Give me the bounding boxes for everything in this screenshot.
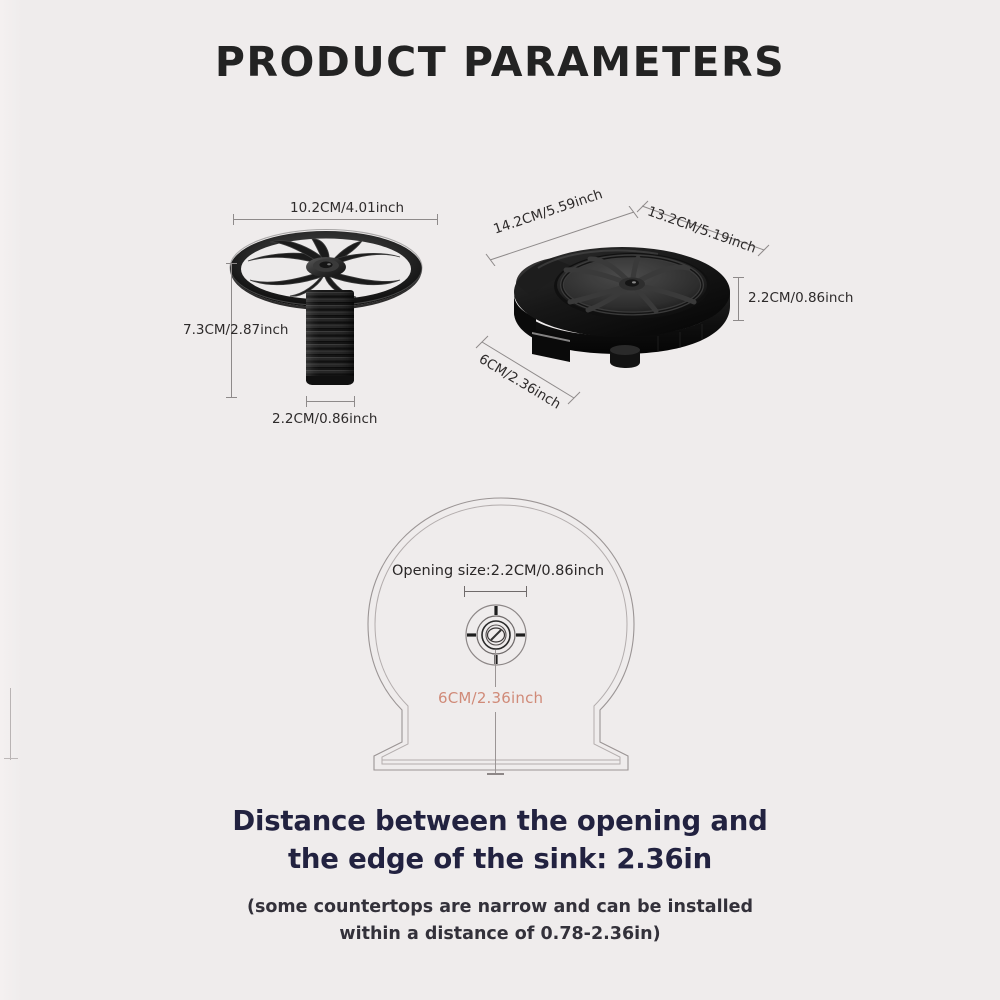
opening-dimension-cap-left (464, 586, 465, 597)
left-width-cap-start (233, 214, 234, 225)
opening-size-label: Opening size:2.2CM/0.86inch (392, 563, 604, 579)
left-width-label: 10.2CM/4.01inch (290, 200, 404, 216)
stem-bottom-cap (306, 376, 354, 385)
left-stem-label: 2.2CM/0.86inch (272, 411, 377, 427)
left-stem-cap-start (306, 396, 307, 407)
edge-distance-label: 6CM/2.36inch (438, 689, 543, 707)
edge-distance-end-tick (487, 773, 504, 775)
edge-distance-line-lower (495, 712, 496, 774)
opening-dimension-cap-right (526, 586, 527, 597)
sink-opening-icon (459, 598, 533, 672)
left-height-label: 7.3CM/2.87inch (183, 322, 288, 338)
left-width-cap-end (437, 214, 438, 225)
callout-headline-line2: the edge of the sink: 2.36in (0, 843, 1000, 875)
left-height-cap-top (226, 263, 237, 264)
background-artifact-foot (4, 758, 18, 759)
callout-subtext-line1: (some countertops are narrow and can be … (0, 897, 1000, 917)
callout-headline-line1: Distance between the opening and (0, 805, 1000, 837)
right-thickness-dimension-line (738, 277, 739, 320)
edge-distance-line-upper (495, 650, 496, 687)
background-artifact-line (10, 688, 11, 760)
left-product-illustration (228, 228, 424, 408)
threaded-stem (306, 290, 354, 383)
infographic-page: PRODUCT PARAMETERS (0, 0, 1000, 1000)
left-stem-dimension-line (306, 401, 354, 402)
page-title: PRODUCT PARAMETERS (0, 38, 1000, 86)
right-thickness-cap-bottom (733, 320, 744, 321)
callout-subtext-line2: within a distance of 0.78-2.36in) (0, 924, 1000, 944)
right-thickness-cap-top (733, 277, 744, 278)
left-stem-cap-end (354, 396, 355, 407)
opening-dimension-line (464, 591, 526, 592)
right-thickness-label: 2.2CM/0.86inch (748, 290, 853, 306)
left-width-dimension-line (233, 219, 437, 220)
left-height-cap-bottom (226, 397, 237, 398)
